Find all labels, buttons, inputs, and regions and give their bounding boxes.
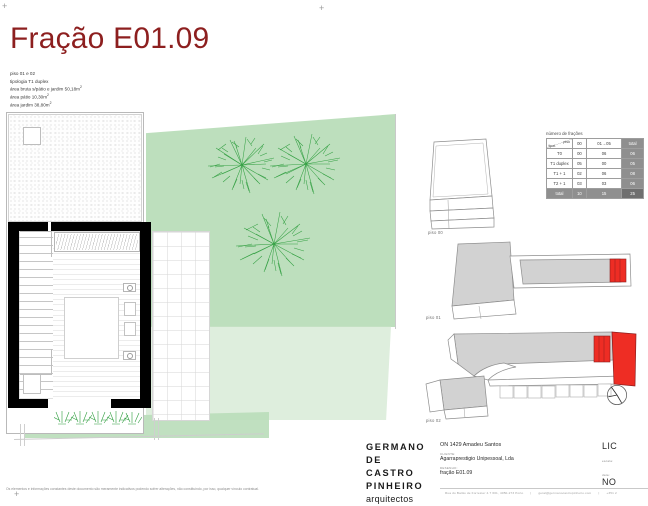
footer-phone: +351 2 (606, 491, 616, 495)
row-2-total: 08 (622, 169, 644, 179)
page-title: Fração E01.09 (10, 22, 209, 56)
fixture-lower (123, 351, 136, 360)
studio-logo: GERMANO DE CASTRO PINHEIRO arquitectos (366, 441, 434, 506)
footer-email: geral@germanocastropinheiro.com (538, 491, 591, 495)
table-row: T0 00 06 06 (547, 149, 644, 159)
wall-right (140, 222, 151, 408)
footer-sep-1: | (530, 491, 531, 495)
cabinet-2 (124, 322, 136, 336)
wall-bottom-left (8, 399, 48, 408)
row-type-1: T1 duplex (547, 159, 573, 169)
logo-line-3: PINHEIRO (366, 480, 434, 493)
drawing-value: fração E01.09 (440, 470, 570, 476)
client-value: Agarraprestigio Unipessoal, Lda (440, 456, 570, 462)
terrace-paving-upper (8, 114, 142, 222)
title-block-right: LIC escala: data: NO (602, 441, 648, 487)
crop-mark-top: + (319, 4, 324, 13)
door-swing-lower (20, 349, 52, 375)
spec-typology: tipologia T1 duplex (10, 78, 82, 86)
logo-line-1: GERMANO (366, 441, 434, 454)
schedule-table: piso tipol. 00 01→05 total T0 00 06 06 T… (546, 138, 644, 199)
tree-symbol-3 (234, 210, 314, 278)
spec-gross-area: área bruta s/pátio e jardim 50,18m2 (10, 85, 82, 93)
corner-top-label: piso (563, 140, 570, 144)
wall-top-right (51, 222, 151, 231)
wall-top-left (8, 222, 48, 231)
drawing-sheet: + + + Fração E01.09 piso 01 e 02 tipolog… (0, 0, 648, 506)
keyplan-label-0: piso 00 (428, 230, 443, 235)
keyplan-piso-02 (424, 324, 640, 422)
row-1-val-1: 00 (586, 159, 621, 169)
wall-left (8, 222, 19, 408)
logo-line-2: DE CASTRO (366, 454, 434, 480)
row-2-val-1: 06 (586, 169, 621, 179)
north-arrow-icon (606, 384, 628, 406)
fixture-upper (123, 283, 136, 292)
door-swing-upper (20, 231, 52, 257)
corner-bottom-label: tipol. (549, 144, 557, 148)
keyplan-piso-00 (426, 138, 498, 230)
wardrobe-hatch (56, 234, 138, 250)
terrace-feature (23, 127, 41, 145)
patio-paving-grid (152, 231, 210, 421)
spec-garden-area: área jardim 38,80m2 (10, 101, 82, 109)
total-label: total (547, 189, 573, 199)
schedule-corner-cell: piso tipol. (547, 139, 573, 149)
total-val-0: 10 (573, 189, 587, 199)
cabinet-1 (124, 302, 136, 316)
row-1-total: 05 (622, 159, 644, 169)
spec-patio-area: área pátio 10,30m2 (10, 93, 82, 101)
footer-address: Rua do Barão de Forrester 4.7 601, 4050-… (445, 491, 523, 495)
row-type-2: T1 + 1 (547, 169, 573, 179)
schedule-col-2: total (622, 139, 644, 149)
wardrobe (54, 232, 140, 252)
schedule-total-row: total 10 15 25 (547, 189, 644, 199)
bed (64, 297, 119, 359)
schedule-col-1: 01→05 (586, 139, 621, 149)
row-type-0: T0 (547, 149, 573, 159)
title-block-footer: Rua do Barão de Forrester 4.7 601, 4050-… (442, 491, 620, 495)
project-name: ON 1429 Amadeu Santos (440, 442, 570, 448)
title-block-divider (440, 488, 648, 489)
total-val-1: 15 (586, 189, 621, 199)
shrub-planting (54, 408, 142, 426)
row-0-val-1: 06 (586, 149, 621, 159)
row-type-3: T2 + 1 (547, 179, 573, 189)
crop-mark-top-left: + (2, 2, 7, 11)
wall-bottom-right (111, 399, 151, 408)
disclaimer-text: Os elementos e informações constantes de… (6, 487, 346, 492)
keyplan-label-2: piso 02 (426, 418, 441, 423)
row-3-val-1: 03 (586, 179, 621, 189)
unit-specs: piso 01 e 02 tipologia T1 duplex área br… (10, 70, 82, 109)
spec-floor: piso 01 e 02 (10, 70, 82, 78)
scale-key: escala: (602, 459, 648, 463)
logo-line-4: arquitectos (366, 493, 434, 506)
bathroom-fixture (23, 374, 41, 394)
row-2-val-0: 02 (573, 169, 587, 179)
licence-label: LIC (602, 441, 648, 451)
drawing-number: NO (602, 477, 648, 487)
row-3-val-0: 03 (573, 179, 587, 189)
table-row: T1 duplex 05 00 05 (547, 159, 644, 169)
row-1-val-0: 05 (573, 159, 587, 169)
schedule-header-row: piso tipol. 00 01→05 total (547, 139, 644, 149)
row-3-total: 06 (622, 179, 644, 189)
tree-symbol-2 (268, 132, 344, 196)
schedule-col-0: 00 (573, 139, 587, 149)
row-0-total: 06 (622, 149, 644, 159)
schedule-caption: número de frações (546, 131, 644, 136)
keyplan-piso-01 (424, 240, 636, 320)
title-block-fields: ON 1429 Amadeu Santos cliente: Agarrapre… (440, 442, 570, 479)
row-0-val-0: 00 (573, 149, 587, 159)
footer-sep-2: | (598, 491, 599, 495)
table-row: T2 + 1 03 03 06 (547, 179, 644, 189)
unit-schedule: número de frações piso tipol. 00 01→05 t… (546, 131, 644, 199)
keyplan-label-1: piso 01 (426, 315, 441, 320)
title-block: GERMANO DE CASTRO PINHEIRO arquitectos O… (366, 441, 648, 503)
table-row: T1 + 1 02 06 08 (547, 169, 644, 179)
floor-plan-drawing (6, 112, 398, 442)
total-grand: 25 (622, 189, 644, 199)
